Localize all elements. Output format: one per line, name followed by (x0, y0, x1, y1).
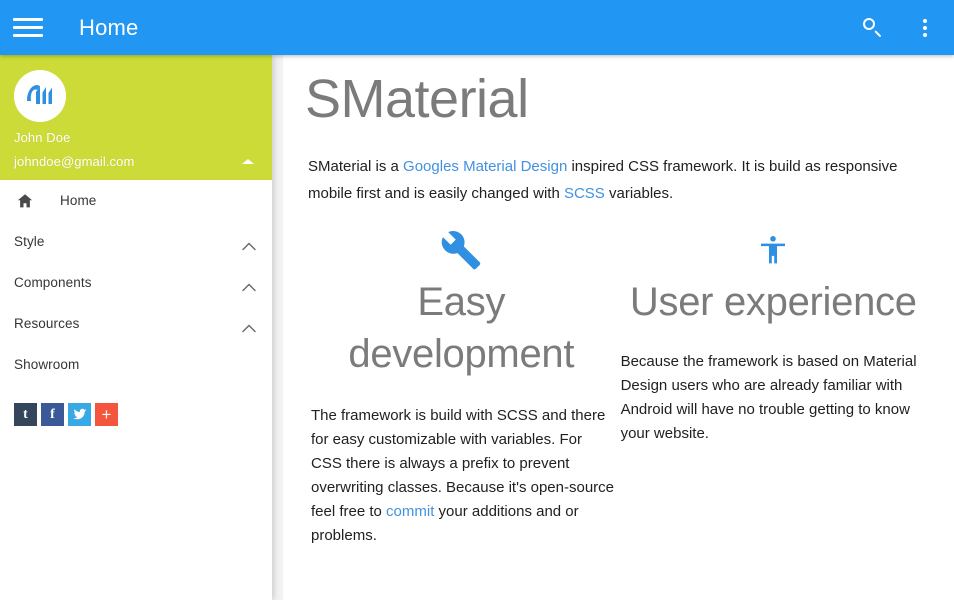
drawer-nav-list: Home Style Components Resources (0, 180, 272, 385)
app-root: Home (0, 0, 954, 600)
sidebar-item-resources[interactable]: Resources (0, 303, 272, 344)
feature-user-experience: User experience Because the framework is… (619, 229, 932, 548)
sidebar-item-home[interactable]: Home (0, 180, 272, 221)
scss-link[interactable]: SCSS (564, 185, 605, 202)
drawer-header: John Doe johndoe@gmail.com (0, 55, 272, 180)
overflow-menu-button[interactable] (912, 15, 938, 41)
accessibility-icon (757, 233, 789, 267)
feature-easy-development: Easy development The framework is build … (305, 229, 619, 548)
search-icon (863, 18, 883, 38)
chevron-up-icon (242, 279, 256, 288)
smaterial-logo-avatar[interactable] (14, 70, 66, 122)
sidebar-item-components[interactable]: Components (0, 262, 272, 303)
tumblr-button[interactable]: t (14, 403, 37, 426)
tumblr-icon: t (23, 408, 28, 422)
chevron-up-icon (242, 238, 256, 247)
search-button[interactable] (860, 15, 886, 41)
content-card: SMaterial SMaterial is a Googles Materia… (283, 55, 954, 600)
twitter-bird-icon (72, 407, 87, 422)
hamburger-bar (13, 18, 43, 21)
feature-body: The framework is build with SCSS and the… (308, 404, 615, 548)
feature-body: Because the framework is based on Materi… (619, 350, 928, 446)
content-area: SMaterial SMaterial is a Googles Materia… (272, 55, 954, 600)
sidebar-item-style[interactable]: Style (0, 221, 272, 262)
feature-title: User experience (619, 276, 928, 328)
intro-text-1: SMaterial is a (308, 158, 403, 175)
sidebar-item-label: Showroom (14, 357, 79, 372)
facebook-button[interactable]: f (41, 403, 64, 426)
account-email: johndoe@gmail.com (14, 154, 134, 169)
feature-icon-wrapper (619, 229, 928, 271)
account-name: John Doe (14, 130, 70, 145)
more-vert-icon (923, 19, 927, 37)
social-links: t f + (0, 385, 272, 426)
wrench-icon (438, 229, 484, 271)
sidebar-item-label: Style (14, 234, 45, 249)
feature-columns: Easy development The framework is build … (305, 229, 932, 548)
account-switcher-toggle[interactable] (238, 155, 258, 169)
commit-link[interactable]: commit (386, 503, 434, 520)
app-bar: Home (0, 0, 954, 55)
hamburger-bar (13, 34, 43, 37)
intro-text-3: variables. (605, 185, 673, 202)
app-bar-left: Home (0, 15, 139, 41)
sidebar-item-showroom[interactable]: Showroom (0, 344, 272, 385)
app-bar-actions (860, 15, 938, 41)
plus-icon: + (102, 406, 112, 423)
hamburger-menu-icon[interactable] (13, 15, 47, 41)
sidebar-item-label: Home (60, 193, 96, 208)
chevron-up-icon (238, 155, 258, 169)
feature-title: Easy development (308, 276, 615, 380)
home-icon (14, 190, 36, 212)
facebook-icon: f (50, 408, 55, 422)
navigation-drawer: John Doe johndoe@gmail.com Home Style (0, 55, 272, 600)
app-bar-title: Home (79, 15, 139, 41)
twitter-button[interactable] (68, 403, 91, 426)
feature-icon-wrapper (308, 229, 615, 271)
feature-body-text-1: Because the framework is based on Materi… (621, 353, 917, 442)
page-title: SMaterial (305, 55, 932, 132)
chevron-up-icon (242, 320, 256, 329)
google-plus-button[interactable]: + (95, 403, 118, 426)
intro-paragraph: SMaterial is a Googles Material Design i… (308, 153, 932, 207)
hamburger-bar (13, 26, 43, 29)
avatar-logo-icon (14, 70, 66, 122)
sidebar-item-label: Components (14, 275, 92, 290)
sidebar-item-label: Resources (14, 316, 79, 331)
material-design-link[interactable]: Googles Material Design (403, 158, 567, 175)
